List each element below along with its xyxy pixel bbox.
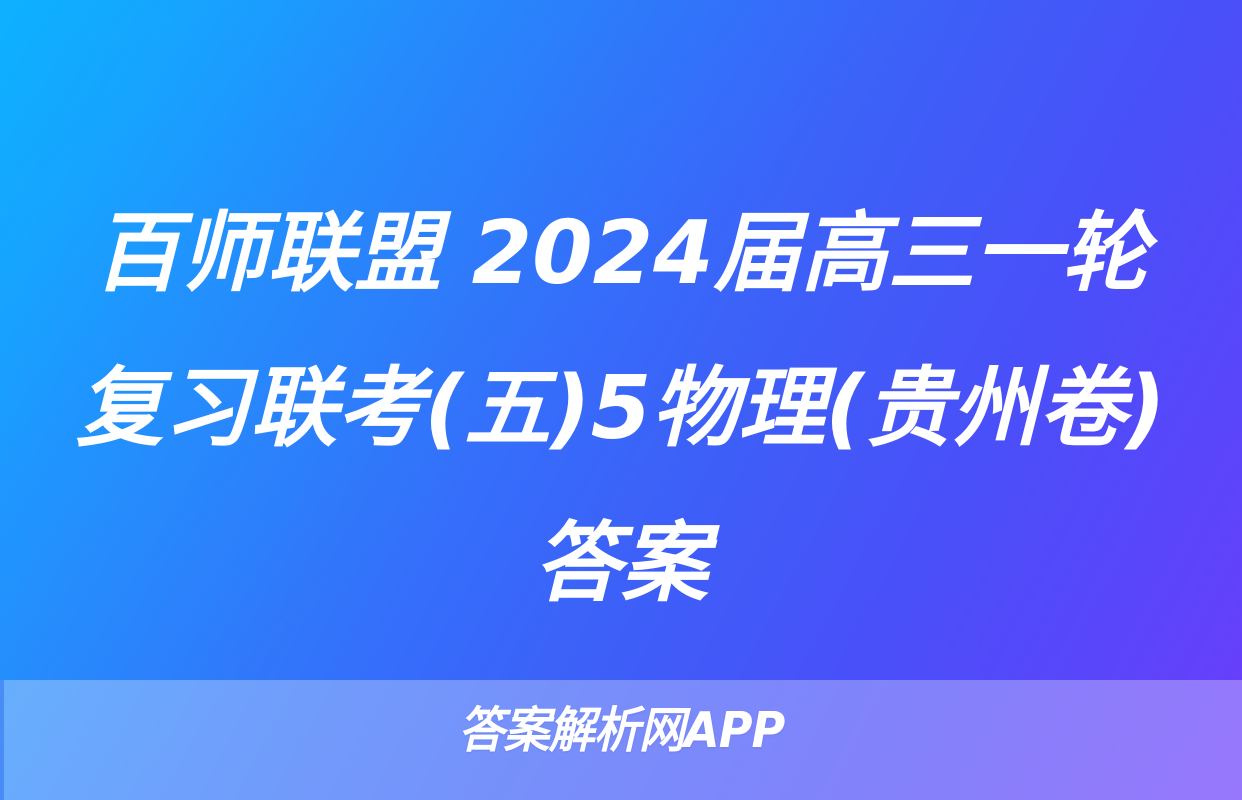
watermark-block: 答案解析网APP (0, 702, 1242, 760)
watermark-brand-text: 答案解析网APP (458, 702, 784, 760)
answer-cover-card: 百师联盟 2024届高三一轮复习联考(五)5物理(贵州卷)答案 答案解析网APP (0, 0, 1242, 800)
title-block: 百师联盟 2024届高三一轮复习联考(五)5物理(贵州卷)答案 (0, 176, 1242, 641)
page-title: 百师联盟 2024届高三一轮复习联考(五)5物理(贵州卷)答案 (74, 176, 1168, 641)
